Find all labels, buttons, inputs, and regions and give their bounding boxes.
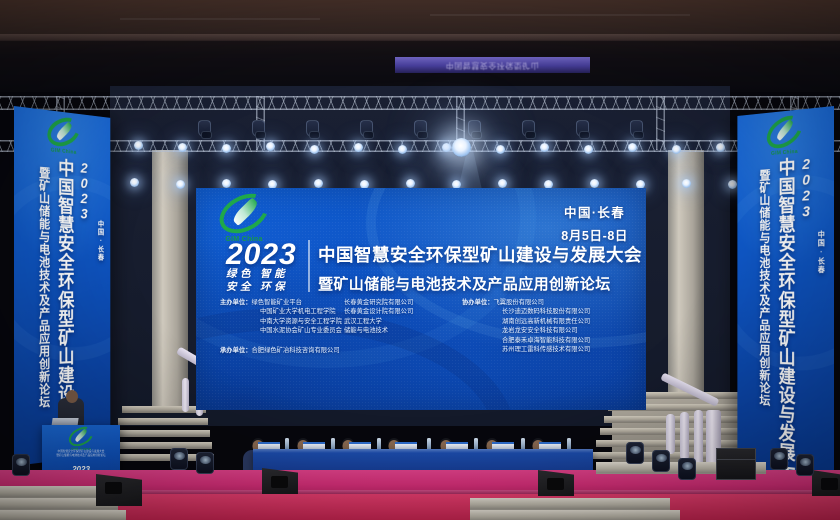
organizer-row: 中国矿业大学机电工程学院	[220, 307, 344, 316]
host-value: 长春黄金设计院有限公司	[344, 307, 413, 316]
moving-head-light	[360, 120, 373, 137]
stage-light	[406, 179, 415, 188]
floor-moving-light	[196, 452, 214, 474]
moving-head-light	[252, 120, 265, 137]
screen-title-line1: 中国智慧安全环保型矿山建设与发展大会	[318, 242, 634, 267]
organizer-row: 中南大学资源与安全工程学院	[220, 317, 344, 326]
moving-head-light	[576, 120, 589, 137]
logo-swish	[55, 121, 73, 140]
stage-light	[628, 143, 637, 152]
host-value: 中国水泥协会矿山专业委员会	[260, 326, 342, 335]
host-value: 储能与电池技术	[344, 326, 388, 335]
moving-head-light	[414, 120, 427, 137]
organizer-column-cohosts: 协办单位： 飞翼股份有限公司 长沙迪迈数码科技股份有限公司 湖南创远高新机械有限…	[462, 298, 612, 354]
stone-step	[470, 498, 670, 510]
stage-light	[266, 142, 275, 151]
floor-moving-light	[170, 448, 188, 470]
right-banner-sub-title: 暨矿山储能与电池技术及产品应用创新论坛	[756, 159, 773, 466]
screen-place-date: 中国·长春 8月5日-8日	[561, 202, 628, 244]
baluster	[680, 412, 689, 460]
gim-china-logo: GIM China	[766, 116, 804, 156]
ceiling-beam	[0, 34, 840, 41]
stage-light	[590, 179, 599, 188]
organizer-row: 武汉工程大学	[344, 317, 462, 326]
stage-light	[728, 180, 737, 189]
logo-ring	[213, 188, 275, 241]
stage-light	[584, 145, 593, 154]
stone-step	[0, 510, 126, 520]
moving-head-light	[306, 120, 319, 137]
handrail	[660, 372, 719, 406]
stair-step	[114, 430, 210, 437]
screen-title-block: 中国智慧安全环保型矿山建设与发展大会 暨矿山储能与电池技术及产品应用创新论坛	[318, 242, 634, 294]
stage-light	[398, 145, 407, 154]
cohost-value: 苏州理工雷科传感技术有限公司	[502, 345, 590, 354]
host-label: 主办单位：	[220, 298, 251, 307]
stage-light	[498, 179, 507, 188]
equipment-flight-case	[716, 448, 756, 480]
stage-light	[222, 144, 231, 153]
screen-slogan-line2: 安全 环保	[226, 281, 288, 294]
organizer-row: 主办单位： 绿色智能矿业平台	[220, 298, 344, 307]
cohost-value: 合肥泰禾卓海智能科技有限公司	[502, 336, 590, 345]
stone-step	[470, 510, 680, 520]
baluster	[182, 378, 189, 412]
stage-light	[178, 143, 187, 152]
screen-divider	[308, 240, 310, 292]
screen-title-line2: 暨矿山储能与电池技术及产品应用创新论坛	[318, 273, 634, 294]
logo-swish	[775, 119, 795, 141]
stage-light	[134, 141, 143, 150]
floor-moving-light	[12, 454, 30, 476]
host-value: 中南大学资源与安全工程学院	[260, 317, 342, 326]
ceiling-panel-line	[120, 18, 320, 20]
gim-china-logo: GIM China	[46, 117, 80, 155]
cohost-value: 飞翼股份有限公司	[493, 298, 543, 307]
ceiling	[0, 0, 840, 92]
floor-moving-light	[796, 454, 814, 476]
stage-monitor-speaker	[812, 470, 840, 496]
organizer-row: 长春黄金研究院有限公司	[344, 298, 462, 307]
stage-light	[540, 143, 549, 152]
right-banner-main-title: 中国智慧安全环保型矿山建设与发展大会	[773, 157, 797, 469]
organizer-label: 承办单位：	[220, 346, 251, 355]
screen-year: 2023	[226, 238, 297, 272]
screen-city: 中国·长春	[561, 202, 628, 221]
right-banner-place: 中国·长春	[816, 216, 826, 274]
floor-moving-light	[652, 450, 670, 472]
organizer-row: 合肥泰禾卓海智能科技有限公司	[462, 336, 612, 345]
right-vertical-banner: GIM China 2023 中国智慧安全环保型矿山建设与发展大会 暨矿山储能与…	[737, 106, 834, 478]
screen-slogan-line1: 绿色 智能	[226, 268, 288, 281]
main-led-screen: GIM China 中国·长春 8月5日-8日 2023 绿色 智能 安全 环保…	[196, 188, 646, 410]
truss-vertical	[656, 96, 665, 150]
floor-moving-light	[678, 458, 696, 480]
stage-light	[354, 143, 363, 152]
screen-organizer-line: 承办单位： 合肥绿色矿冶科技咨询有限公司	[220, 346, 340, 355]
ceiling-led-strip: 中国智慧安全环保型矿山	[395, 57, 590, 73]
stage-light	[442, 143, 451, 152]
organizer-row: 苏州理工雷科传感技术有限公司	[462, 345, 612, 354]
organizer-value: 合肥绿色矿冶科技咨询有限公司	[251, 346, 339, 355]
host-value: 中国矿业大学机电工程学院	[260, 307, 336, 316]
moving-head-light	[630, 120, 643, 137]
stage-light	[130, 178, 139, 187]
ceiling-led-strip-text: 中国智慧安全环保型矿山	[395, 57, 590, 73]
stage-light	[314, 179, 323, 188]
logo-swish	[74, 428, 88, 442]
moving-head-light	[522, 120, 535, 137]
cohost-label: 协办单位：	[462, 298, 493, 307]
organizer-row: 中国水泥协会矿山专业委员会	[220, 326, 344, 335]
speaker-head	[66, 390, 78, 403]
stage-light	[716, 143, 725, 152]
organizer-row: 长春黄金设计院有限公司	[344, 307, 462, 316]
left-banner-sub-title: 暨矿山储能与电池技术及产品应用创新论坛	[35, 156, 52, 458]
left-banner-place: 中国·长春	[97, 207, 106, 262]
organizer-row: 湖南创远高新机械有限责任公司	[462, 317, 612, 326]
stage-light	[672, 145, 681, 154]
logo-swish	[231, 197, 260, 226]
ceiling-panel-line	[430, 14, 690, 16]
lighting-truss-row	[0, 96, 840, 110]
stair-step	[110, 442, 212, 449]
gim-china-logo: GIM China	[68, 428, 94, 450]
podium-title-line2: 暨矿山储能与电池技术及产品应用创新论坛	[42, 454, 120, 458]
logo-ring	[43, 113, 84, 152]
host-value: 武汉工程大学	[344, 317, 382, 326]
cohost-value: 湖南创远高新机械有限责任公司	[502, 317, 590, 326]
organizer-row: 储能与电池技术	[344, 326, 462, 335]
cohost-value: 龙岩龙安安全科技有限公司	[502, 326, 578, 335]
host-value: 绿色智能矿业平台	[251, 298, 301, 307]
moving-head-light	[198, 120, 211, 137]
stair-step	[118, 418, 208, 425]
gim-china-logo: GIM China	[218, 196, 270, 242]
floor-moving-light	[626, 442, 644, 464]
conference-stage-photo: 中国智慧安全环保型矿山	[0, 0, 840, 520]
podium-title: 中国智慧安全环保型矿山建设与发展大会 暨矿山储能与电池技术及产品应用创新论坛	[42, 450, 120, 458]
stage-light	[222, 179, 231, 188]
organizer-row: 协办单位： 飞翼股份有限公司	[462, 298, 612, 307]
right-banner-text: 2023 中国智慧安全环保型矿山建设与发展大会 暨矿山储能与电池技术及产品应用创…	[737, 154, 834, 472]
baluster	[694, 410, 703, 466]
stage-light	[176, 180, 185, 189]
stage-light	[682, 179, 691, 188]
organizer-column-hosts-2: 长春黄金研究院有限公司 长春黄金设计院有限公司 武汉工程大学 储能与电池技术	[344, 298, 462, 354]
floor-moving-light	[770, 448, 788, 470]
organizer-row: 长沙迪迈数码科技股份有限公司	[462, 307, 612, 316]
moving-head-light	[468, 120, 481, 137]
stage-light	[310, 145, 319, 154]
right-banner-year: 2023	[798, 156, 814, 470]
baluster	[666, 414, 675, 454]
lighting-truss-row	[0, 140, 840, 152]
screen-slogan: 绿色 智能 安全 环保	[226, 268, 288, 294]
stage-light	[496, 145, 505, 154]
cohost-value: 长沙迪迈数码科技股份有限公司	[502, 307, 590, 316]
host-value: 长春黄金研究院有限公司	[344, 298, 413, 307]
logo-label: GIM China	[46, 147, 80, 156]
stage-light-bright	[452, 138, 471, 157]
organizer-row: 龙岩龙安安全科技有限公司	[462, 326, 612, 335]
